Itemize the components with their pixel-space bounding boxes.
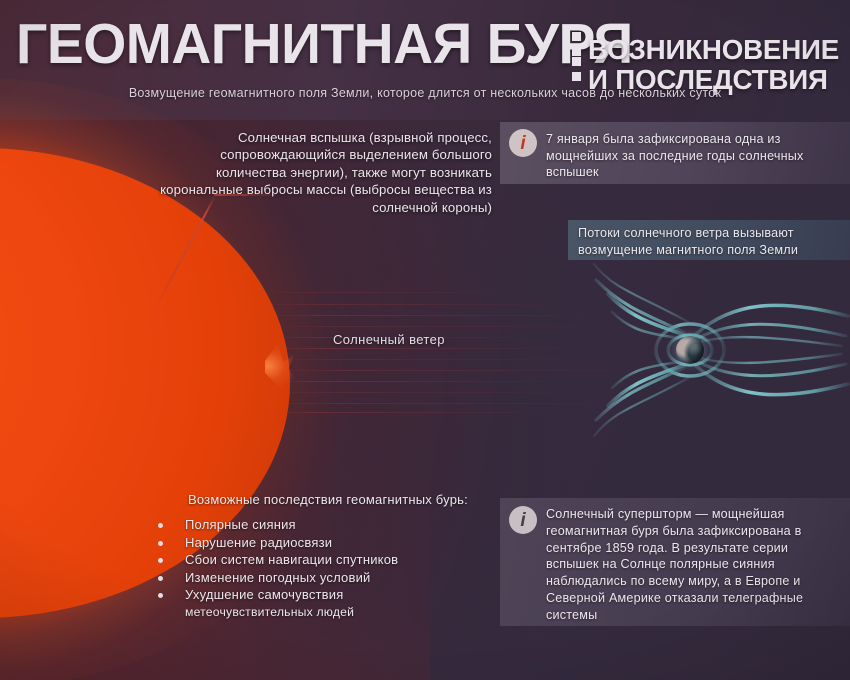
- vignette-overlay: [0, 0, 850, 680]
- infographic-canvas: ГЕОМАГНИТНАЯ БУРЯ ВОЗНИКНОВЕНИЕ И ПОСЛЕД…: [0, 0, 850, 680]
